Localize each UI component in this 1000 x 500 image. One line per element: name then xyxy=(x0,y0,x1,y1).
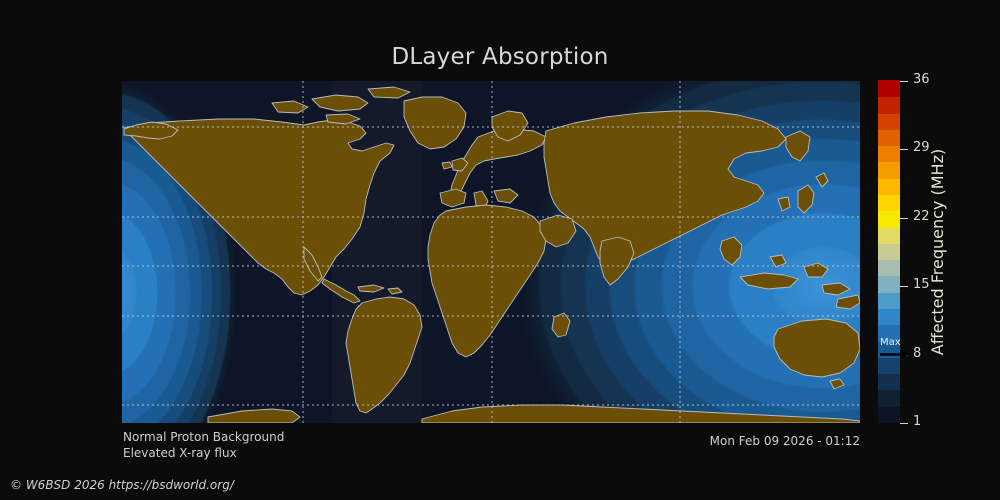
colorbar-band xyxy=(878,162,900,179)
colorbar-band xyxy=(878,146,900,163)
colorbar-tick-mark xyxy=(900,218,908,219)
colorbar-band xyxy=(878,357,900,374)
colorbar-tick-mark xyxy=(900,423,908,424)
colorbar-band xyxy=(878,194,900,211)
colorbar-band xyxy=(878,129,900,146)
colorbar-band xyxy=(878,406,900,423)
map-canvas xyxy=(122,81,860,423)
colorbar-gradient xyxy=(878,81,900,423)
footer-copyright: © W6BSD 2026 https://bsdworld.org/ xyxy=(10,478,234,493)
colorbar-band xyxy=(878,325,900,342)
status-line-1: Normal Proton Background xyxy=(123,429,284,445)
colorbar-band xyxy=(878,113,900,130)
colorbar-band xyxy=(878,374,900,391)
colorbar-band xyxy=(878,276,900,293)
colorbar-band xyxy=(878,341,900,358)
colorbar-band xyxy=(878,243,900,260)
colorbar-band xyxy=(878,292,900,309)
colorbar-band xyxy=(878,390,900,407)
colorbar-band xyxy=(878,260,900,277)
colorbar-band xyxy=(878,97,900,114)
page-title: DLayer Absorption xyxy=(0,44,1000,70)
colorbar-tick-mark xyxy=(900,81,908,82)
world-map[interactable] xyxy=(122,81,860,423)
colorbar-band xyxy=(878,80,900,97)
colorbar[interactable] xyxy=(878,81,900,423)
colorbar-tick-mark xyxy=(900,355,908,356)
colorbar-band xyxy=(878,308,900,325)
colorbar-tick-mark xyxy=(900,149,908,150)
colorbar-band xyxy=(878,211,900,228)
colorbar-tick-label: 1 xyxy=(913,414,921,430)
colorbar-tick-mark xyxy=(900,286,908,287)
timestamp: Mon Feb 09 2026 - 01:12 xyxy=(600,433,860,449)
colorbar-band xyxy=(878,178,900,195)
status-line-2: Elevated X-ray flux xyxy=(123,445,284,461)
colorbar-tick-label: 8 xyxy=(913,346,921,362)
app-root: DLayer Absorption xyxy=(0,0,1000,500)
colorbar-band xyxy=(878,227,900,244)
status-messages: Normal Proton Background Elevated X-ray … xyxy=(123,429,284,461)
colorbar-axis-label: Affected Frequency (MHz) xyxy=(925,81,951,423)
